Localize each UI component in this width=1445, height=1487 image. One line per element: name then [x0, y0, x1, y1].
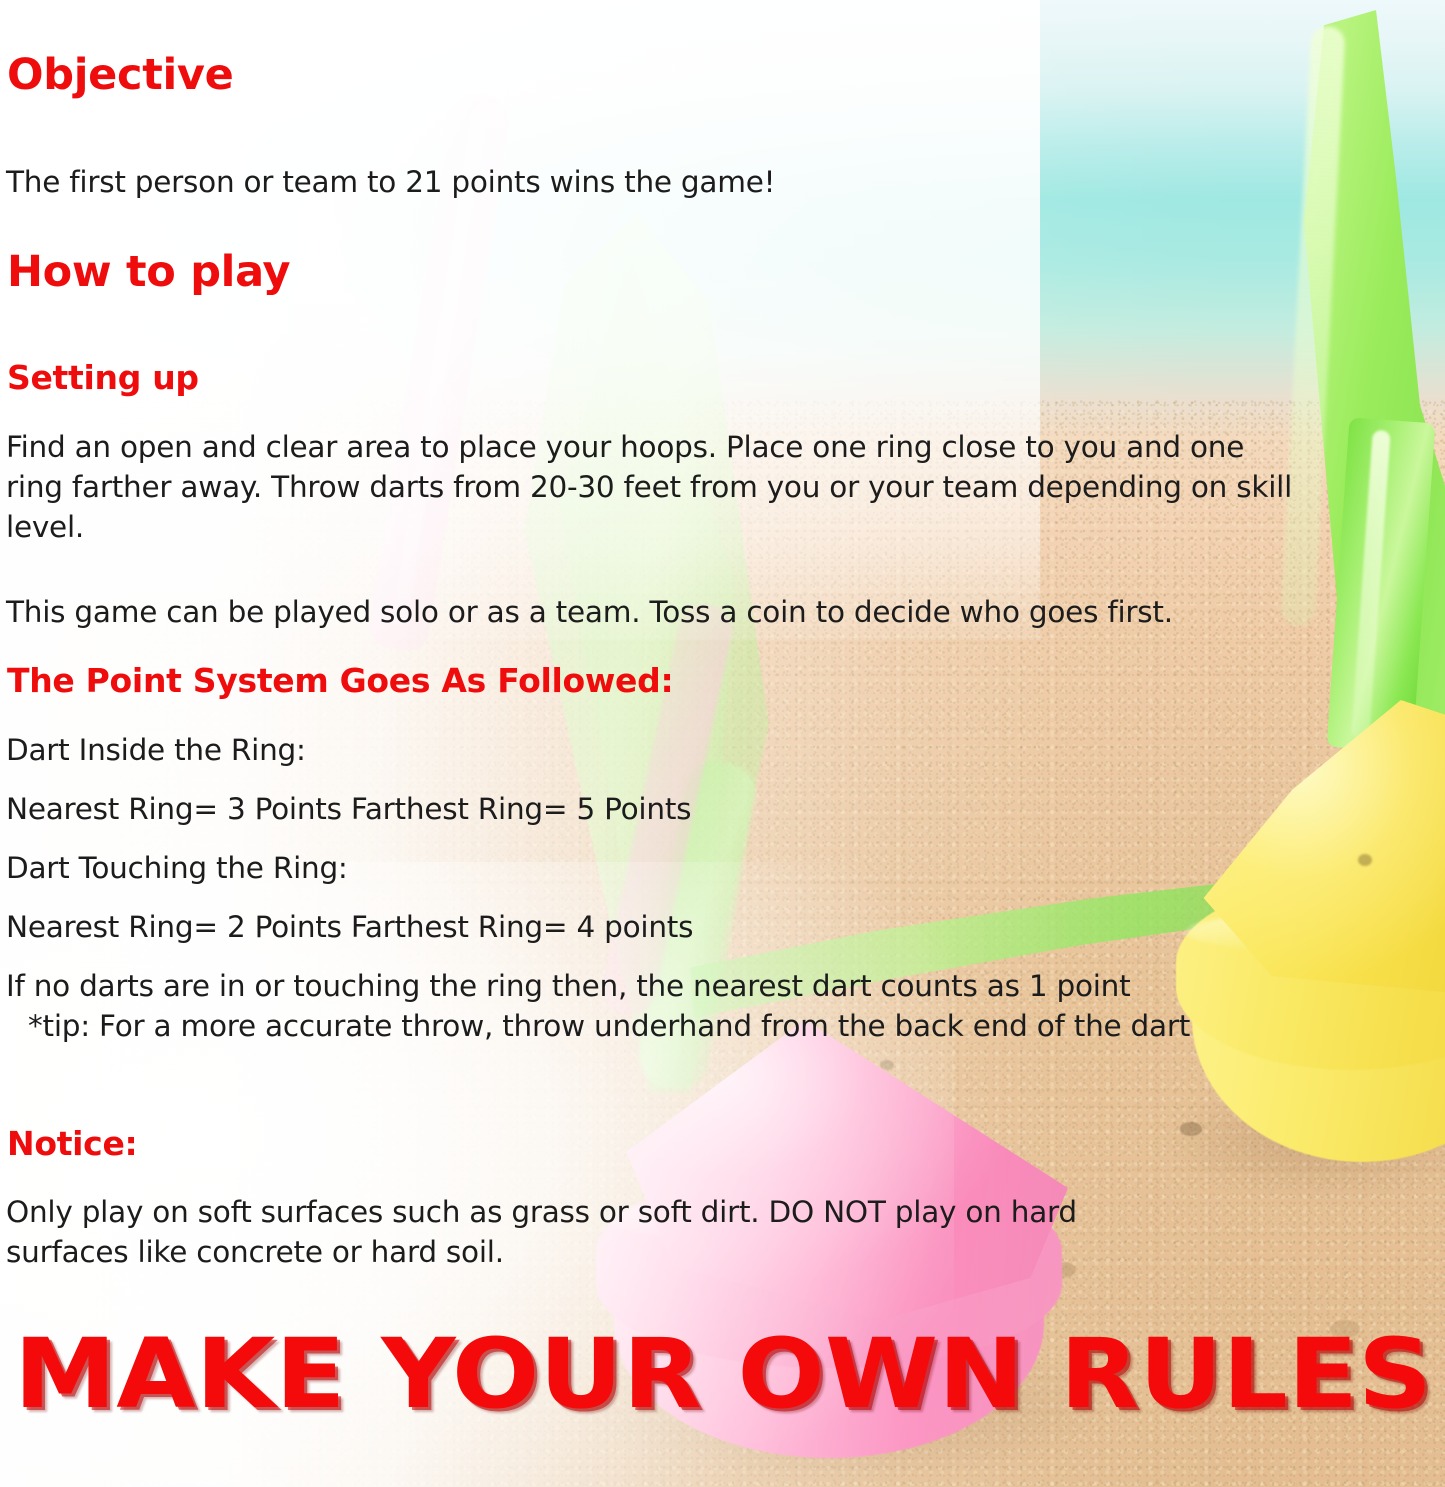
point-system-line-dart-inside: Dart Inside the Ring: [6, 730, 306, 770]
setting-up-paragraph-1: Find an open and clear area to place you… [6, 427, 1306, 547]
point-system-line-inside-scores: Nearest Ring= 3 Points Farthest Ring= 5 … [6, 789, 691, 829]
make-your-own-rules-banner: MAKE YOUR OWN RULES! [14, 1322, 1445, 1426]
instruction-text-layer: Objective The first person or team to 21… [0, 0, 1445, 1487]
point-system-heading: The Point System Goes As Followed: [7, 661, 673, 700]
setting-up-heading: Setting up [7, 358, 199, 397]
how-to-play-heading: How to play [7, 247, 290, 297]
point-system-line-dart-touching: Dart Touching the Ring: [6, 848, 348, 888]
point-system-fallback-rule: If no darts are in or touching the ring … [6, 969, 1130, 1003]
point-system-fallback-block: If no darts are in or touching the ring … [6, 966, 1276, 1046]
objective-heading: Objective [7, 50, 234, 100]
notice-text: Only play on soft surfaces such as grass… [6, 1192, 1206, 1272]
objective-text: The first person or team to 21 points wi… [6, 162, 986, 202]
notice-heading: Notice: [7, 1124, 137, 1163]
instruction-sheet-page: Objective The first person or team to 21… [0, 0, 1445, 1487]
point-system-tip: *tip: For a more accurate throw, throw u… [6, 1006, 1276, 1046]
setting-up-paragraph-2: This game can be played solo or as a tea… [6, 592, 1296, 632]
point-system-line-touching-scores: Nearest Ring= 2 Points Farthest Ring= 4 … [6, 907, 693, 947]
